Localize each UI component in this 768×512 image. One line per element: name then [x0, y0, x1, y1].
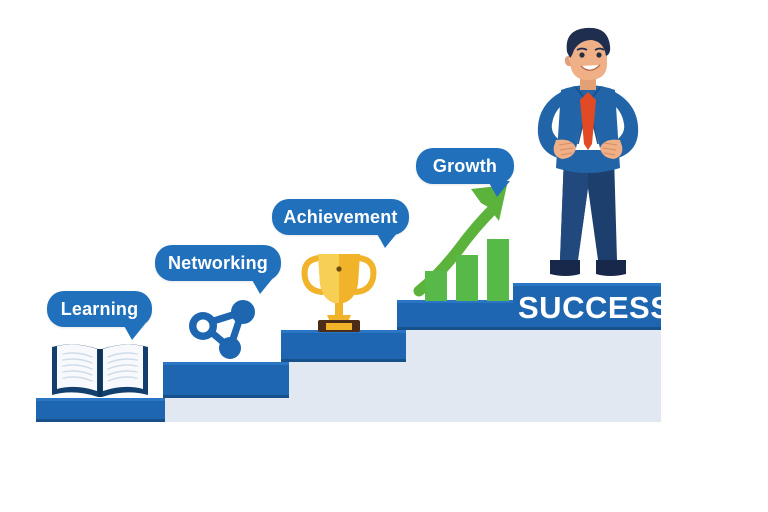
bubble-achievement-label: Achievement	[283, 207, 397, 228]
riser-2	[288, 362, 661, 398]
step-4-surface	[397, 300, 514, 330]
bubble-learning-label: Learning	[61, 299, 139, 320]
step-block-3[interactable]	[281, 330, 406, 362]
infographic-canvas: SUCCESS	[0, 0, 768, 512]
step-1-surface	[36, 398, 165, 422]
step-2-surface	[163, 362, 289, 398]
bubble-tail-learning	[123, 324, 145, 340]
success-label: SUCCESS	[518, 290, 658, 326]
riser-3	[405, 330, 661, 362]
bubble-tail-networking	[251, 278, 273, 294]
step-block-2[interactable]	[163, 362, 289, 398]
network-nodes-icon	[186, 300, 262, 362]
bubble-tail-growth	[488, 181, 510, 197]
businessman-standing-icon	[518, 28, 658, 288]
bubble-achievement[interactable]: Achievement	[272, 199, 409, 235]
trophy-icon	[301, 246, 377, 332]
bubble-networking[interactable]: Networking	[155, 245, 281, 281]
bubble-learning[interactable]: Learning	[47, 291, 152, 327]
step-block-1[interactable]	[36, 398, 165, 422]
step-3-surface	[281, 330, 406, 362]
bubble-tail-achievement	[376, 232, 398, 248]
riser-1	[165, 398, 661, 422]
bubble-networking-label: Networking	[168, 253, 268, 274]
bubble-growth[interactable]: Growth	[416, 148, 514, 184]
step-block-4[interactable]	[397, 300, 514, 330]
bubble-growth-label: Growth	[433, 156, 497, 177]
open-book-icon	[48, 337, 152, 401]
